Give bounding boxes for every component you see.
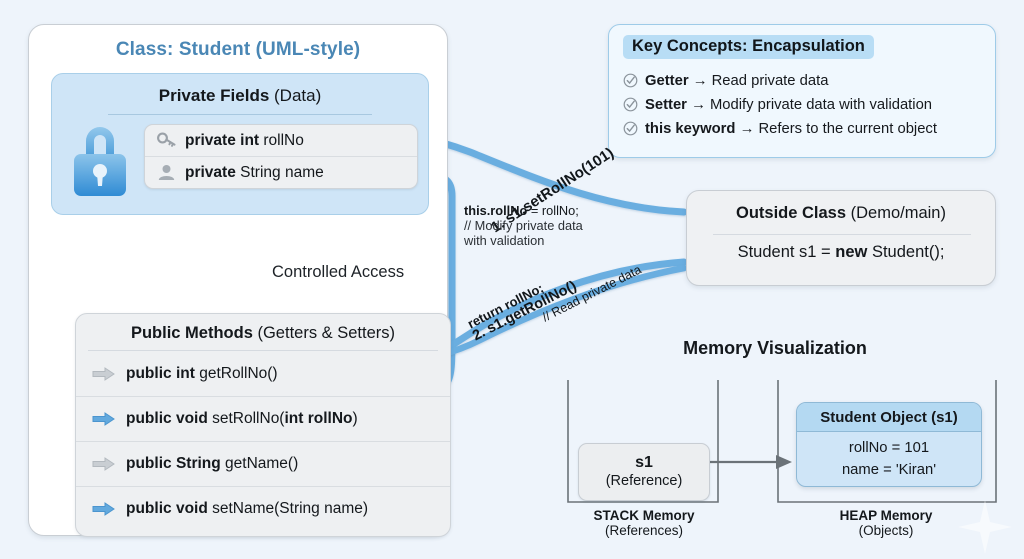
- field-rollno-bold: private int: [185, 132, 259, 149]
- key-concept-setter: Setter → Modify private data with valida…: [623, 93, 989, 117]
- heap-label-line2: (Objects): [800, 523, 972, 538]
- method-row-getrollno[interactable]: public int getRollNo(): [76, 351, 450, 396]
- public-methods-title: Public Methods (Getters & Setters): [76, 324, 450, 343]
- outside-class-title: Outside Class (Demo/main): [687, 204, 995, 223]
- stack-label-line1: STACK Memory: [558, 508, 730, 523]
- diagram-canvas: Class: Student (UML-style) Private Field…: [0, 0, 1024, 559]
- outside-code-pre: Student s1 =: [738, 243, 836, 261]
- key-concept-this: this keyword → Refers to the current obj…: [623, 117, 989, 141]
- key-setter-text: Setter → Modify private data with valida…: [645, 93, 932, 117]
- lock-icon: [66, 116, 134, 200]
- method-setrollno-normal2: ): [353, 410, 358, 427]
- arrow-right-grey-icon: [92, 457, 116, 471]
- key-this-bold: this keyword: [645, 121, 735, 137]
- note-this-bold: this.rollNo: [464, 203, 527, 218]
- class-student-box: Class: Student (UML-style) Private Field…: [28, 24, 448, 536]
- method-setname-bold: public void: [126, 500, 208, 517]
- note-this-line3: with validation: [464, 233, 583, 248]
- heap-object-body: rollNo = 101 name = 'Kiran': [797, 432, 981, 481]
- note-this-line1: this.rollNo = rollNo;: [464, 203, 583, 218]
- arrow-right-blue-icon: [92, 502, 116, 516]
- method-getname-bold: public String: [126, 455, 221, 472]
- method-row-getname[interactable]: public String getName(): [76, 441, 450, 486]
- public-methods-panel: Public Methods (Getters & Setters) publi…: [75, 313, 451, 537]
- method-getrollno-normal: getRollNo(): [195, 365, 278, 382]
- arrow-right-grey-icon: [92, 367, 116, 381]
- note-this-rest: = rollNo;: [527, 203, 579, 218]
- private-fields-title-normal: (Data): [269, 86, 321, 105]
- private-fields-title-bold: Private Fields: [159, 86, 270, 105]
- private-fields-divider: [108, 114, 372, 115]
- stack-reference-box: s1 (Reference): [578, 443, 710, 501]
- key-concepts-box: Key Concepts: Encapsulation Getter → Rea…: [608, 24, 996, 158]
- method-setrollno-bold2: int rollNo: [284, 410, 352, 427]
- outside-code-new: new: [835, 243, 867, 261]
- outside-class-code: Student s1 = new Student();: [687, 243, 995, 262]
- outside-class-title-bold: Outside Class: [736, 204, 846, 222]
- person-icon: [157, 164, 176, 181]
- method-setname-normal: setName(String name): [208, 500, 368, 517]
- heap-label-line1: HEAP Memory: [800, 508, 972, 523]
- stack-ref-sub: (Reference): [606, 472, 683, 491]
- key-getter-rest: → Read private data: [689, 73, 829, 89]
- method-row-setname[interactable]: public void setName(String name): [76, 486, 450, 531]
- field-rollno-normal: rollNo: [259, 132, 304, 149]
- stack-ref-name: s1: [635, 453, 653, 472]
- field-name-bold: private: [185, 164, 236, 181]
- private-fields-title: Private Fields (Data): [52, 86, 428, 106]
- heap-object-field-name: name = 'Kiran': [797, 459, 981, 481]
- field-text-name: private String name: [185, 164, 324, 182]
- method-getrollno-bold: public int: [126, 365, 195, 382]
- private-fields-panel: Private Fields (Data): [51, 73, 429, 215]
- controlled-access-label: Controlled Access: [272, 263, 404, 282]
- method-getname-normal: getName(): [221, 455, 299, 472]
- key-getter-text: Getter → Read private data: [645, 69, 828, 93]
- heap-student-object-box: Student Object (s1) rollNo = 101 name = …: [796, 402, 982, 487]
- method-text-getname: public String getName(): [126, 455, 298, 473]
- method-row-setrollno[interactable]: public void setRollNo(int rollNo): [76, 396, 450, 441]
- key-this-text: this keyword → Refers to the current obj…: [645, 117, 937, 141]
- method-text-setname: public void setName(String name): [126, 500, 368, 518]
- memory-visualization-title: Memory Visualization: [660, 338, 890, 359]
- public-methods-title-bold: Public Methods: [131, 324, 253, 342]
- field-name-normal: String name: [236, 164, 324, 181]
- field-text-rollno: private int rollNo: [185, 132, 304, 150]
- heap-object-title: Student Object (s1): [797, 403, 981, 432]
- key-setter-rest: → Modify private data with validation: [687, 97, 932, 113]
- outside-class-box: Outside Class (Demo/main) Student s1 = n…: [686, 190, 996, 286]
- method-text-getrollno: public int getRollNo(): [126, 365, 278, 383]
- method-text-setrollno: public void setRollNo(int rollNo): [126, 410, 358, 428]
- method-setrollno-bold: public void: [126, 410, 208, 427]
- key-concepts-list: Getter → Read private data Setter → Modi…: [623, 69, 989, 141]
- method-setrollno-normal: setRollNo(: [208, 410, 285, 427]
- stack-label-line2: (References): [558, 523, 730, 538]
- key-getter-bold: Getter: [645, 73, 689, 89]
- field-row-name: private String name: [145, 156, 417, 188]
- heap-memory-label: HEAP Memory (Objects): [800, 508, 972, 538]
- key-concepts-title: Key Concepts: Encapsulation: [623, 35, 874, 59]
- public-methods-title-normal: (Getters & Setters): [253, 324, 395, 342]
- note-this-line2: // Modify private data: [464, 218, 583, 233]
- field-row-rollno: private int rollNo: [145, 125, 417, 156]
- check-circle-icon: [623, 97, 638, 112]
- key-concept-getter: Getter → Read private data: [623, 69, 989, 93]
- stack-memory-label: STACK Memory (References): [558, 508, 730, 538]
- flow-note-this-assignment: this.rollNo = rollNo; // Modify private …: [464, 203, 583, 248]
- check-circle-icon: [623, 73, 638, 88]
- outside-code-post: Student();: [867, 243, 944, 261]
- key-icon: [157, 132, 176, 149]
- private-field-list: private int rollNo private String name: [144, 124, 418, 189]
- arrow-right-blue-icon: [92, 412, 116, 426]
- key-this-rest: → Refers to the current object: [735, 121, 937, 137]
- outside-class-title-normal: (Demo/main): [846, 204, 946, 222]
- class-title: Class: Student (UML-style): [29, 39, 447, 61]
- check-circle-icon: [623, 121, 638, 136]
- outside-class-divider: [713, 234, 971, 235]
- key-setter-bold: Setter: [645, 97, 687, 113]
- heap-object-field-rollno: rollNo = 101: [797, 437, 981, 459]
- method-list: public int getRollNo() public void setRo…: [76, 351, 450, 531]
